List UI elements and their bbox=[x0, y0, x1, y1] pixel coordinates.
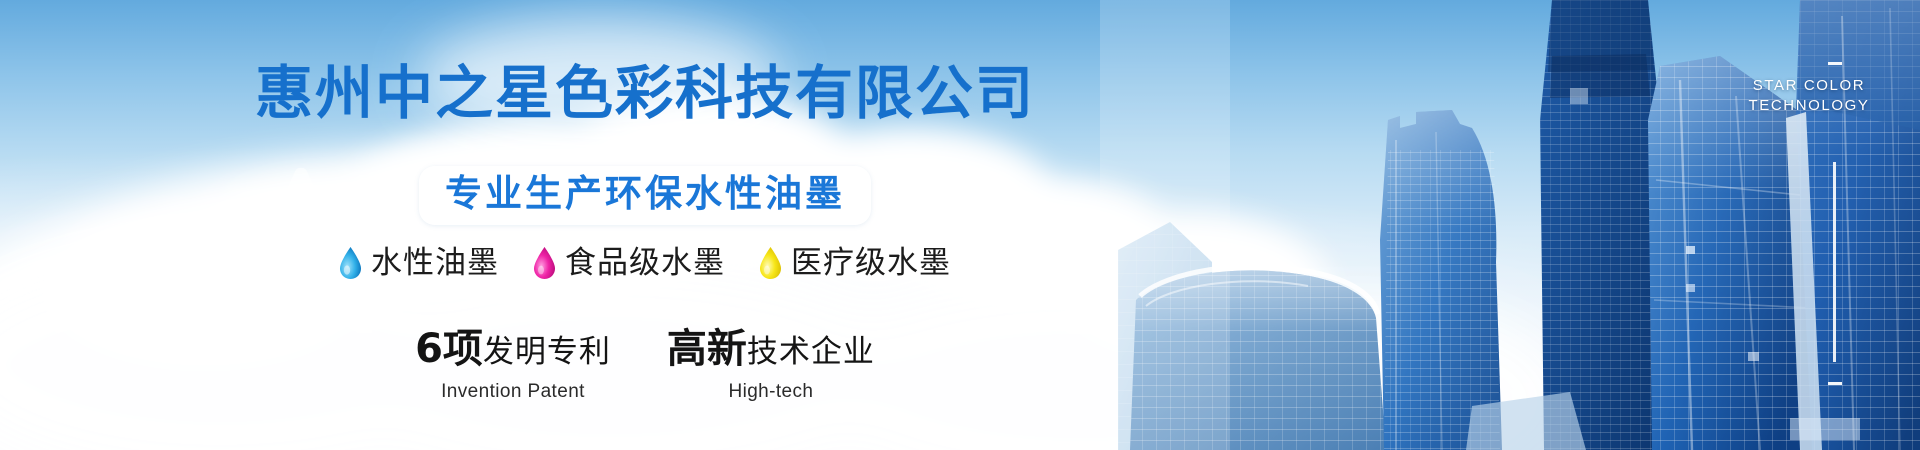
credential-english: Invention Patent bbox=[415, 381, 611, 403]
credential-weak: 发明专利 bbox=[483, 334, 611, 370]
ink-feature-item: 医疗级水墨 bbox=[759, 246, 951, 280]
ink-feature-item: 水性油墨 bbox=[339, 246, 499, 280]
credential-weak: 技术企业 bbox=[747, 334, 875, 370]
ink-feature-label: 医疗级水墨 bbox=[791, 246, 951, 280]
subtitle-pill-wrap: 专业生产环保水性油墨 bbox=[0, 166, 1290, 225]
credential-chinese: 6项发明专利 bbox=[415, 328, 611, 378]
credential-chinese: 高新技术企业 bbox=[667, 328, 875, 378]
water-drop-icon bbox=[533, 246, 556, 280]
badge-line-1: STAR COLOR bbox=[1724, 76, 1894, 96]
credential-strong: 6项 bbox=[415, 326, 483, 372]
water-drop-icon bbox=[759, 246, 782, 280]
badge-line-2: TECHNOLOGY bbox=[1724, 96, 1894, 116]
credential-strong: 高新 bbox=[667, 326, 747, 372]
badge-vertical-rule bbox=[1833, 162, 1836, 362]
ink-feature-list: 水性油墨 食品级水墨 bbox=[0, 246, 1290, 280]
company-hero-banner: Star Color bbox=[0, 0, 1920, 450]
subtitle-pill: 专业生产环保水性油墨 bbox=[419, 166, 871, 225]
star-color-technology-badge: STAR COLOR TECHNOLOGY bbox=[1724, 76, 1894, 116]
badge-rule-bottom bbox=[1828, 382, 1842, 385]
credential-english: High-tech bbox=[667, 381, 875, 403]
water-drop-icon bbox=[339, 246, 362, 280]
ink-feature-item: 食品级水墨 bbox=[533, 246, 725, 280]
banner-copy-block: 惠州中之星色彩科技有限公司 专业生产环保水性油墨 水性油墨 bbox=[0, 0, 1290, 450]
credentials-list: 6项发明专利 Invention Patent 高新技术企业 High-tech bbox=[0, 328, 1290, 403]
credential-item: 6项发明专利 Invention Patent bbox=[415, 328, 611, 403]
badge-rule-top bbox=[1828, 62, 1842, 65]
credential-item: 高新技术企业 High-tech bbox=[667, 328, 875, 403]
ink-feature-label: 水性油墨 bbox=[371, 246, 499, 280]
ink-feature-label: 食品级水墨 bbox=[565, 246, 725, 280]
company-title: 惠州中之星色彩科技有限公司 bbox=[0, 62, 1290, 124]
